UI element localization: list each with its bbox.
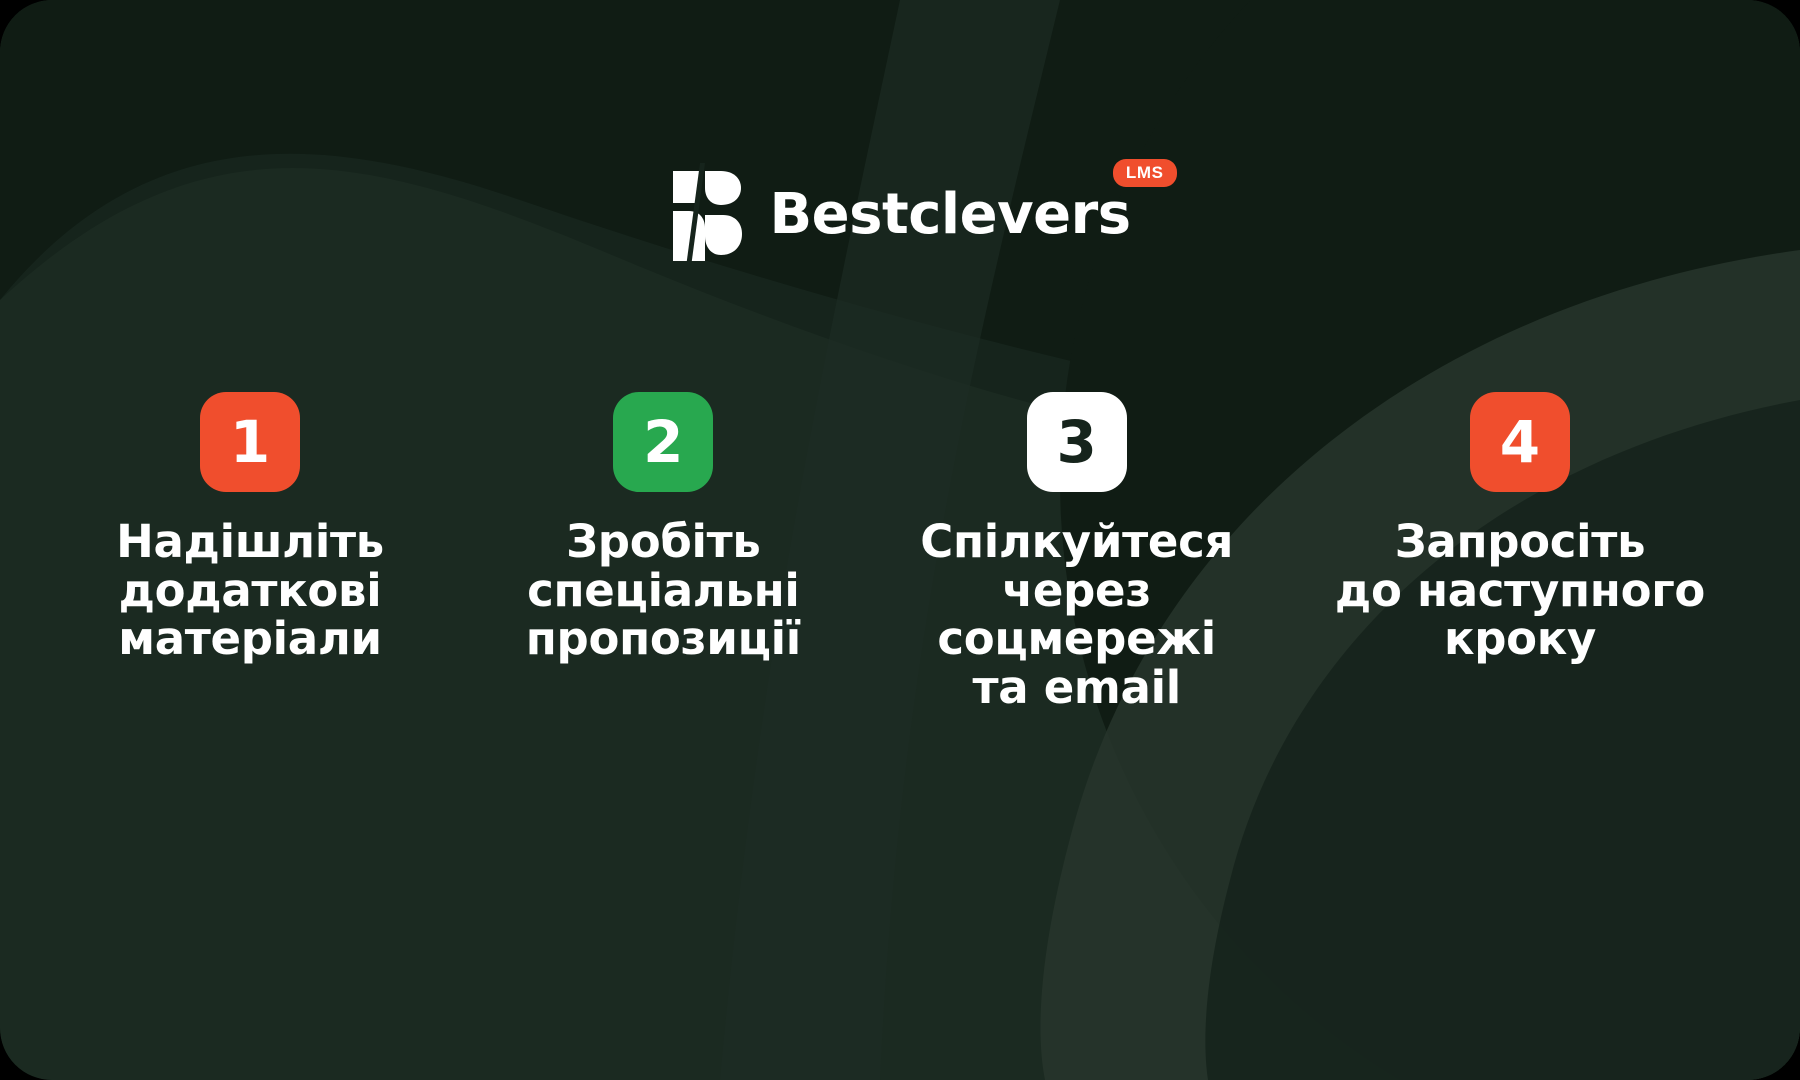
steps-card: Bestclevers LMS 1 Надішліть додаткові ма…: [0, 0, 1800, 1080]
bestclevers-b-mark-icon: [669, 163, 743, 267]
step-title-4: Запросіть до наступного кроку: [1310, 518, 1730, 664]
step-number-badge-3: 3: [1027, 392, 1127, 492]
step-number-badge-1: 1: [200, 392, 300, 492]
steps-list: 1 Надішліть додаткові матеріали 2 Зробіт…: [60, 392, 1740, 712]
step-number-badge-2: 2: [613, 392, 713, 492]
step-item-1: 1 Надішліть додаткові матеріали: [60, 392, 440, 664]
brand-wordmark-wrap: Bestclevers LMS: [769, 187, 1130, 243]
step-number-badge-4: 4: [1470, 392, 1570, 492]
step-item-2: 2 Зробіть спеціальні пропозиції: [473, 392, 853, 664]
step-title-2: Зробіть спеціальні пропозиції: [526, 518, 801, 664]
step-item-3: 3 Спілкуйтеся через соцмережі та email: [887, 392, 1267, 712]
brand-wordmark: Bestclevers: [769, 182, 1130, 247]
step-item-4: 4 Запросіть до наступного кроку: [1300, 392, 1740, 664]
step-title-1: Надішліть додаткові матеріали: [116, 518, 384, 664]
brand-logo: Bestclevers LMS: [0, 160, 1800, 270]
step-title-3: Спілкуйтеся через соцмережі та email: [920, 518, 1233, 712]
lms-badge: LMS: [1113, 159, 1177, 187]
